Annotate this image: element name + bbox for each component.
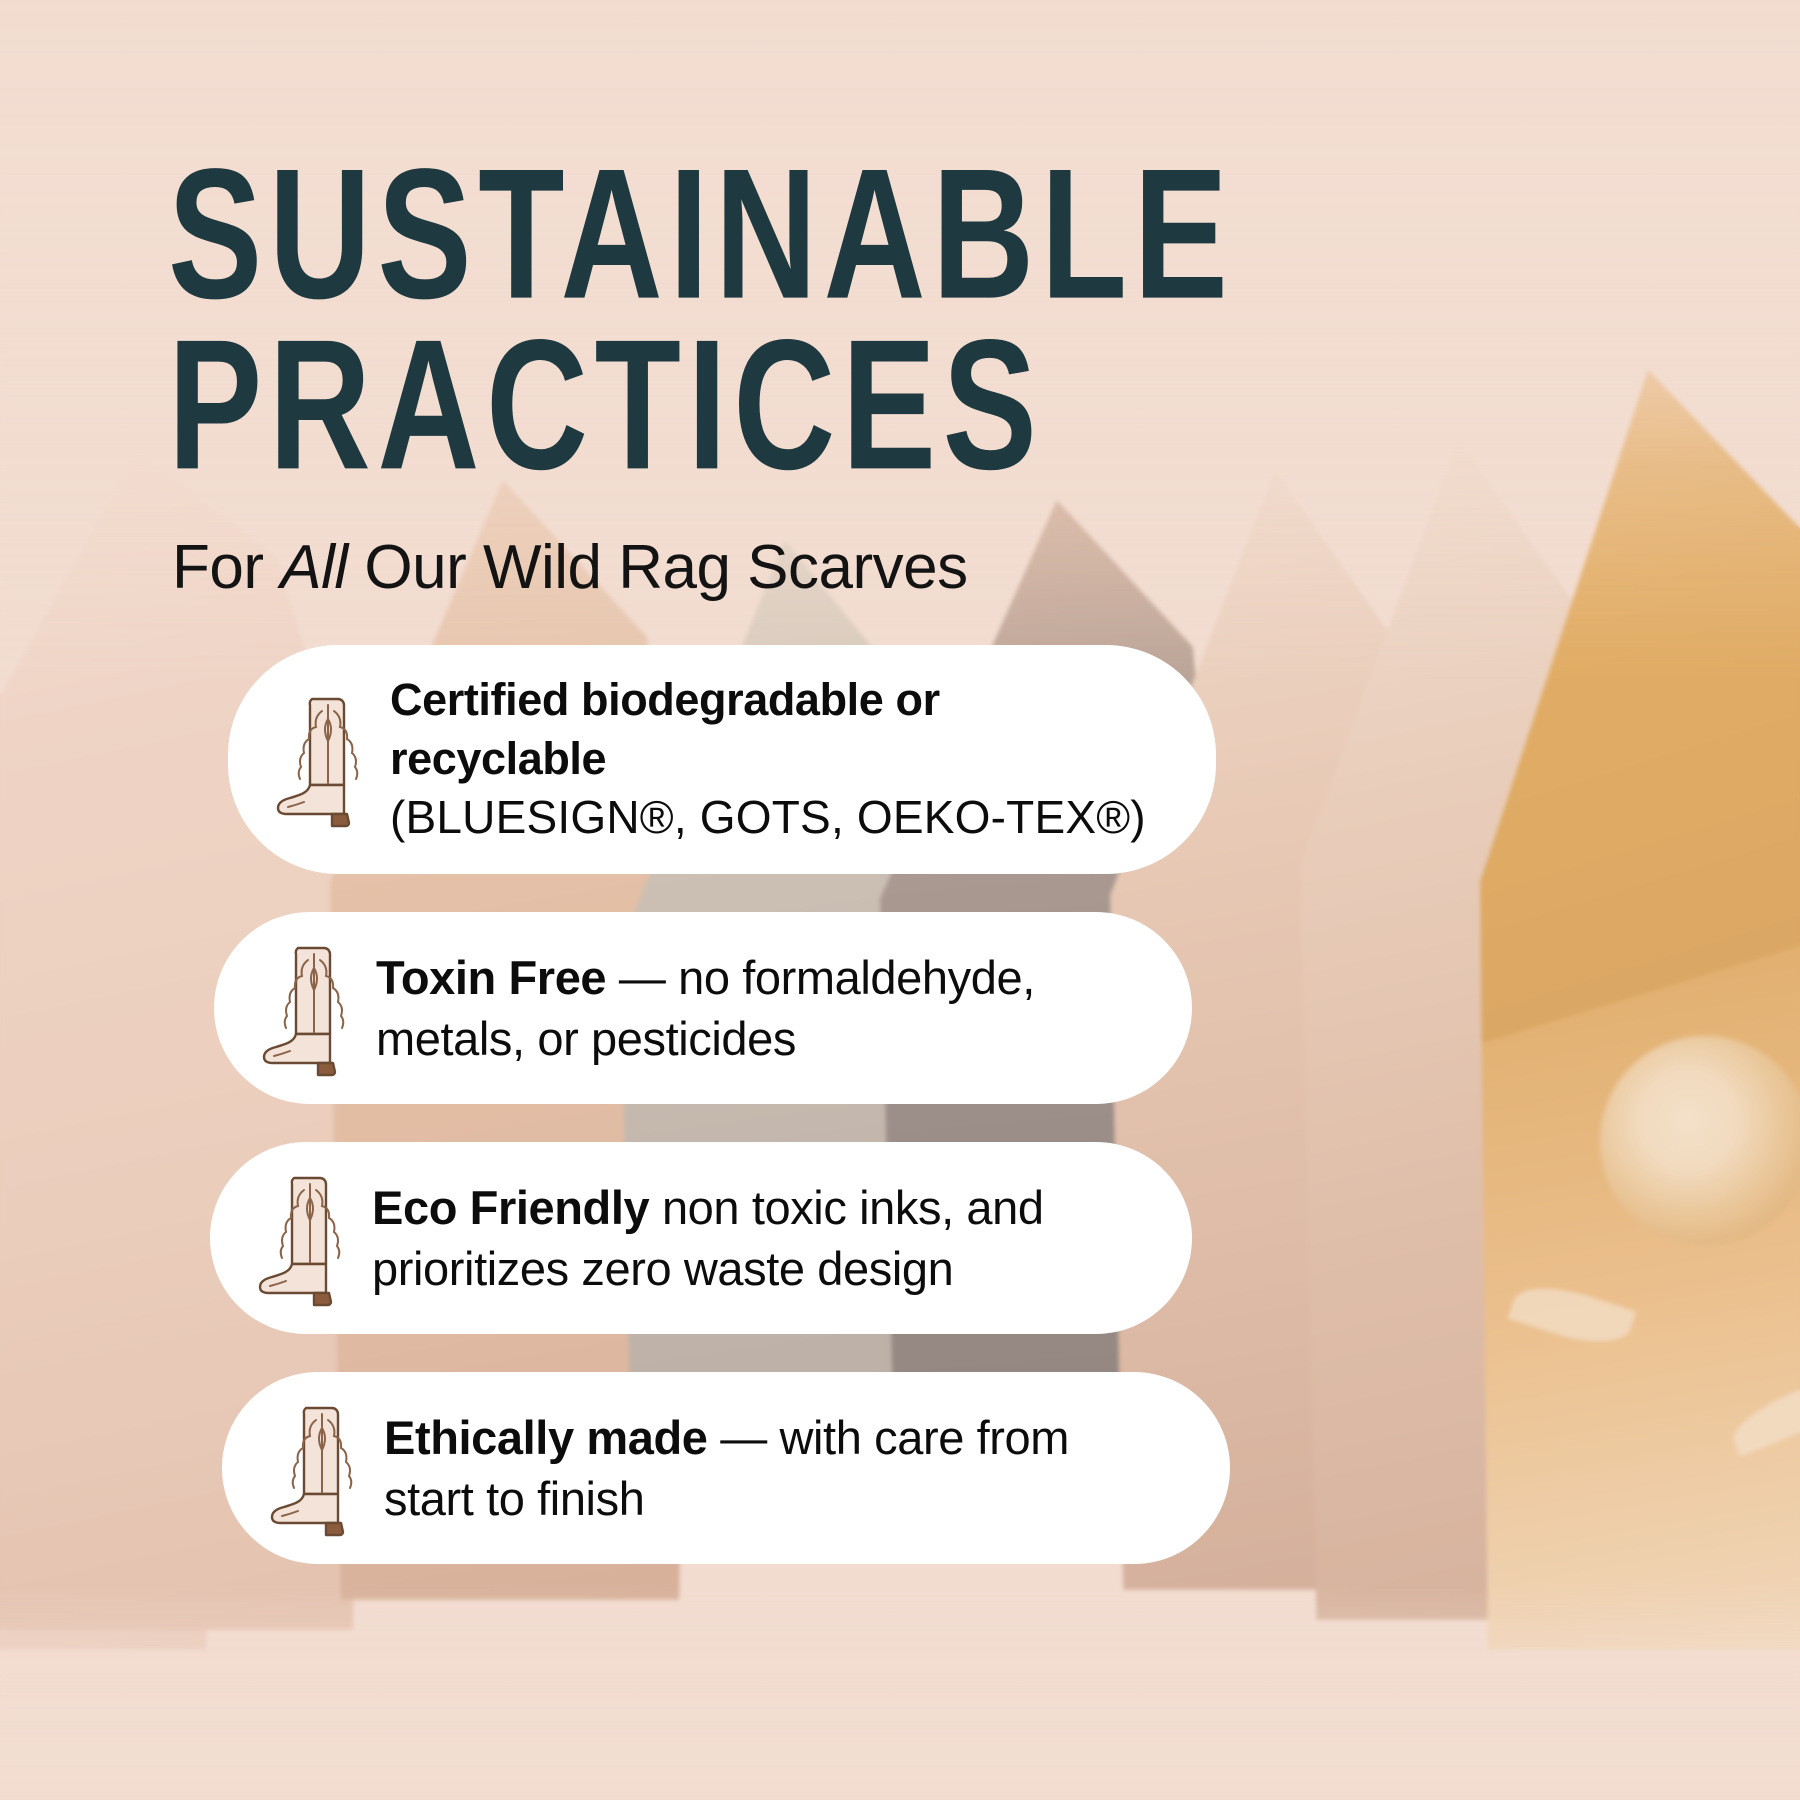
card-secondary-line: (BLUESIGN®, GOTS, OEKO-TEX®) xyxy=(390,788,1156,848)
feature-card[interactable]: Certified biodegradable or recyclable (B… xyxy=(228,645,1216,874)
page-title: SUSTAINABLE PRACTICES xyxy=(168,150,1234,491)
card-bold-label: Eco Friendly xyxy=(372,1181,649,1234)
card-text: Ethically made — with care from start to… xyxy=(384,1407,1170,1529)
card-text: Eco Friendly non toxic inks, and priorit… xyxy=(372,1177,1132,1299)
page-subtitle: For All Our Wild Rag Scarves xyxy=(172,532,968,603)
card-text: Toxin Free — no formaldehyde, metals, or… xyxy=(376,947,1132,1069)
feature-card[interactable]: Ethically made — with care from start to… xyxy=(222,1372,1230,1564)
card-text: Certified biodegradable or recyclable (B… xyxy=(390,671,1156,848)
feature-card[interactable]: Eco Friendly non toxic inks, and priorit… xyxy=(210,1142,1192,1334)
subtitle-after: Our Wild Rag Scarves xyxy=(348,533,968,602)
subtitle-before: For xyxy=(172,533,280,602)
cowboy-boot-icon xyxy=(270,689,366,829)
card-bold-label: Toxin Free xyxy=(376,951,606,1004)
cowboy-boot-icon xyxy=(252,1168,348,1308)
feature-card-list: Certified biodegradable or recyclable (B… xyxy=(0,645,1800,1602)
cowboy-boot-icon xyxy=(256,938,352,1078)
card-bold-label: Ethically made xyxy=(384,1411,708,1464)
subtitle-emphasis: All xyxy=(280,533,347,602)
poster-content: SUSTAINABLE PRACTICES For All Our Wild R… xyxy=(0,0,1800,1800)
cowboy-boot-icon xyxy=(264,1398,360,1538)
feature-card[interactable]: Toxin Free — no formaldehyde, metals, or… xyxy=(214,912,1192,1104)
card-bold-label: Certified biodegradable or recyclable xyxy=(390,674,940,784)
